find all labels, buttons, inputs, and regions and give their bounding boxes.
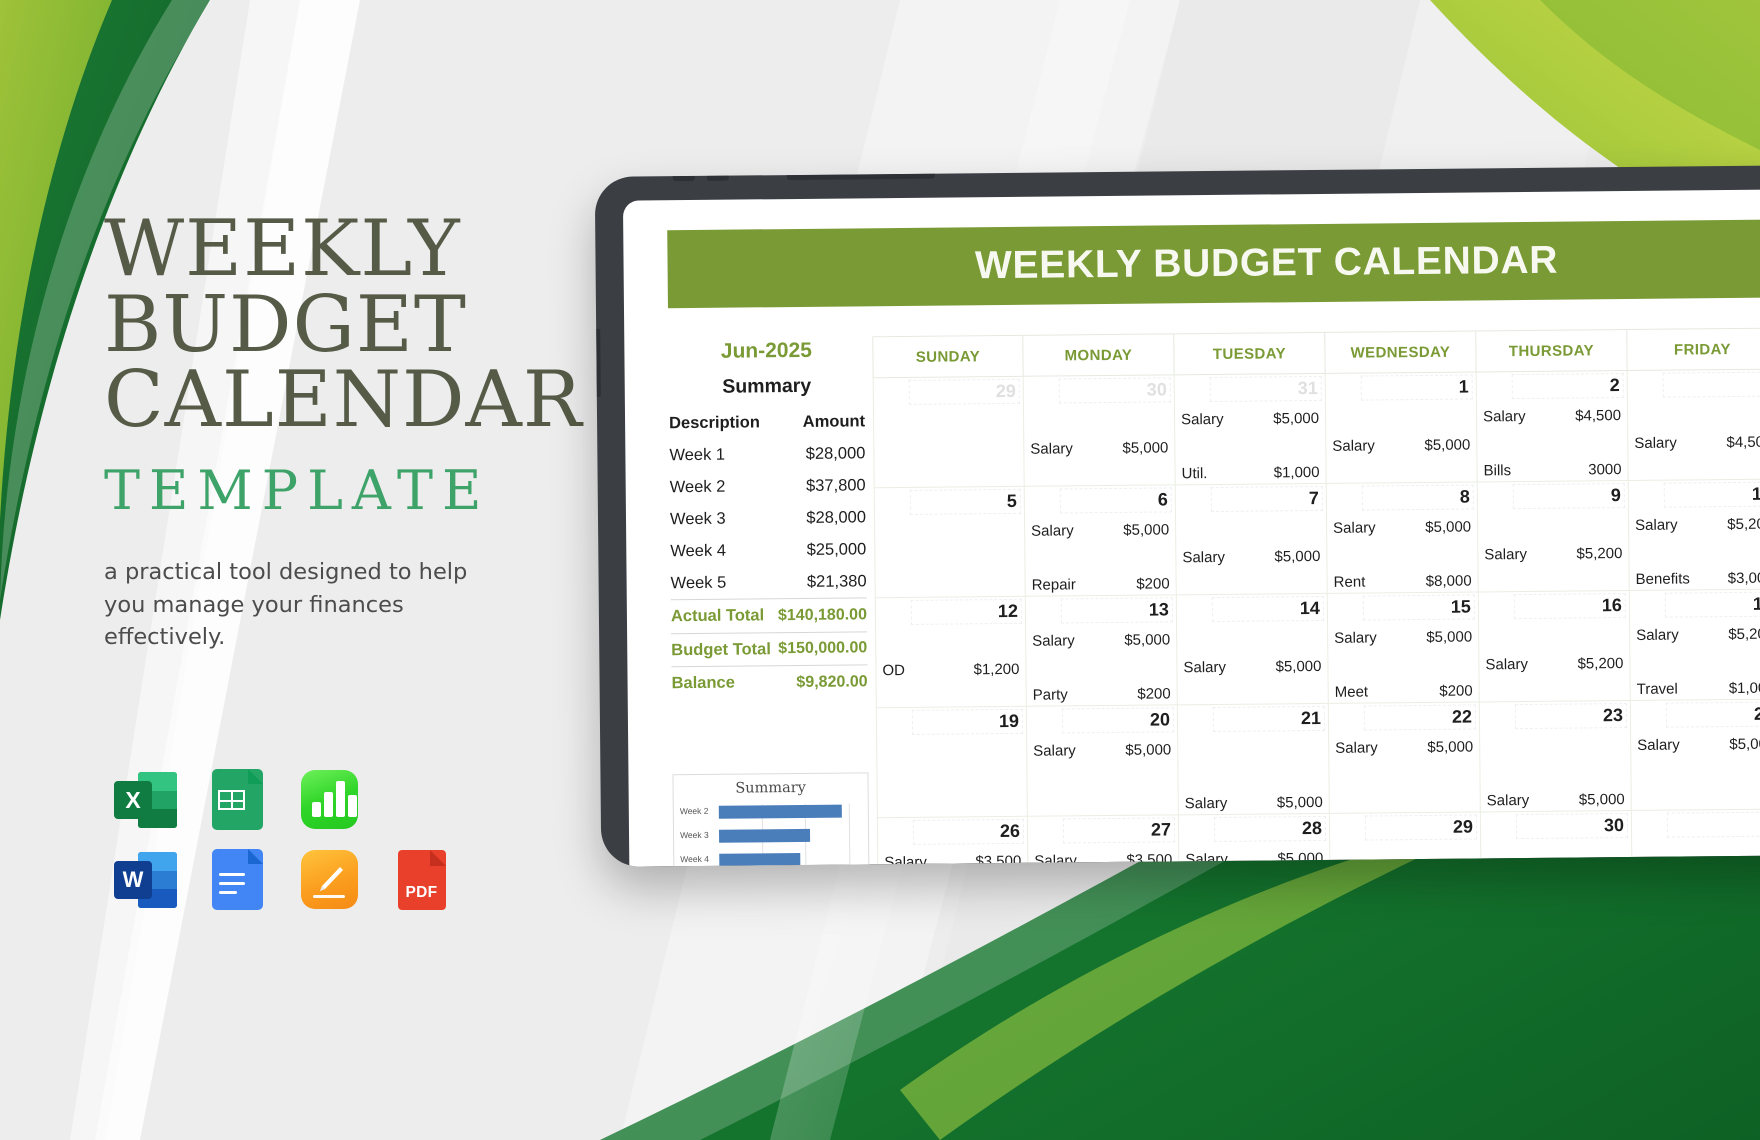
summary-title: Summary <box>669 374 865 399</box>
calendar-entry-amount: $5,000 <box>1123 521 1169 538</box>
calendar-day-cell[interactable]: 20Salary$5,000 <box>1027 705 1179 816</box>
calendar-week-row: 2930Salary$5,00031Salary$5,000Util.$1,00… <box>873 369 1760 488</box>
calendar-entry-amount: $200 <box>1137 685 1171 702</box>
calendar-entry-label: Salary <box>1033 742 1080 759</box>
calendar-day-header: TUESDAY <box>1174 332 1325 375</box>
calendar-day-number: 23 <box>1603 705 1623 726</box>
summary-row: Week 4$25,000 <box>670 533 866 567</box>
tablet-side-button[interactable] <box>596 329 601 397</box>
calendar-week-row: 1920Salary$5,00021Salary$5,00022Salary$5… <box>876 699 1760 818</box>
calendar-entry-label: Benefits <box>1636 570 1694 588</box>
google-sheets-table-glyph <box>218 790 245 810</box>
calendar-entry-amount: $1,000 <box>1274 464 1320 481</box>
calendar-entry[interactable]: Salary$5,000 <box>1335 739 1473 757</box>
calendar-day-cell[interactable]: 13Salary$5,000Party$200 <box>1026 595 1178 706</box>
calendar-day-cell[interactable]: 26Salary$3,500 <box>877 817 1029 867</box>
calendar-day-number: 7 <box>1309 488 1319 509</box>
calendar-entry[interactable]: Salary$5,000 <box>1181 410 1319 428</box>
calendar-day-cell[interactable]: 28Salary$5,000 <box>1179 814 1331 867</box>
calendar-day-cell[interactable]: 7Salary$5,000 <box>1176 484 1328 595</box>
summary-row-amount: $37,800 <box>773 469 866 502</box>
promo-block: WEEKLY BUDGET CALENDAR TEMPLATE a practi… <box>104 212 624 654</box>
calendar-entry-amount: $5,000 <box>1277 794 1323 811</box>
calendar-entry-amount: $1,200 <box>973 661 1019 678</box>
calendar-entry-amount: $5,200 <box>1577 655 1623 672</box>
calendar-entry-amount: $5,000 <box>1124 631 1170 648</box>
calendar-entry[interactable]: Salary$5,000 <box>1185 794 1323 812</box>
calendar-entry-label: Salary <box>1637 736 1684 753</box>
summary-total-amount: $140,180.00 <box>774 598 867 632</box>
chart-bar <box>719 829 810 843</box>
calendar-day-header: MONDAY <box>1023 333 1174 376</box>
apple-numbers-icon[interactable] <box>298 768 361 831</box>
calendar-entry-label: Salary <box>1485 656 1532 673</box>
calendar-day-cell[interactable]: 29 <box>1330 812 1482 866</box>
calendar-entry[interactable]: Salary$4,500 <box>1634 434 1760 452</box>
calendar-day-number: 17 <box>1753 594 1760 615</box>
summary-row-label: Week 4 <box>670 534 774 567</box>
calendar-day-cell[interactable]: 10Salary$5,200Benefits$3,000 <box>1629 480 1760 591</box>
calendar-entry[interactable]: Salary$5,200 <box>1485 655 1623 673</box>
calendar-entry-amount: $5,000 <box>1424 437 1470 454</box>
calendar-entry[interactable]: Salary$5,000 <box>1033 741 1171 759</box>
calendar-day-number: 24 <box>1754 704 1760 725</box>
calendar-grid: SUNDAYMONDAYTUESDAYWEDNESDAYTHURSDAYFRID… <box>872 327 1760 864</box>
calendar-day-cell[interactable]: 8Salary$5,000Rent$8,000 <box>1327 482 1479 593</box>
calendar-entry[interactable]: Rent$8,000 <box>1334 573 1472 591</box>
chart-title: Summary <box>674 779 868 797</box>
calendar-day-cell[interactable]: 14Salary$5,000 <box>1177 594 1329 705</box>
calendar-entry-amount: 3000 <box>1588 461 1622 478</box>
calendar-day-number: 29 <box>996 381 1016 402</box>
summary-total-row: Balance$9,820.00 <box>671 665 867 700</box>
calendar-entry[interactable]: Benefits$3,000 <box>1636 570 1760 588</box>
calendar-day-number: 20 <box>1150 709 1170 730</box>
summary-total-label: Budget Total <box>671 632 775 666</box>
chart-category-label: Week 4 <box>680 854 709 864</box>
page-title: WEEKLY BUDGET CALENDAR <box>104 212 624 439</box>
calendar-entry-label: Salary <box>1635 517 1682 534</box>
tablet-device-mockup: WEEKLY BUDGET CALENDAR Jun-2025 Summary … <box>595 165 1760 867</box>
summary-total-amount: $9,820.00 <box>775 665 868 699</box>
calendar-entry-label: Salary <box>1636 626 1683 643</box>
pdf-icon-label: PDF <box>390 884 453 902</box>
summary-row-amount: $21,380 <box>774 565 867 598</box>
chart-bar <box>719 805 842 819</box>
summary-row-amount: $25,000 <box>774 533 867 566</box>
day-number-box <box>1665 592 1760 618</box>
calendar-entry-label: Party <box>1033 686 1072 703</box>
calendar-day-cell[interactable]: 16Salary$5,200 <box>1479 591 1631 702</box>
calendar-entry-amount: $5,000 <box>1274 548 1320 565</box>
calendar-day-number: 2 <box>1610 375 1620 396</box>
calendar-day-number: 14 <box>1300 598 1320 619</box>
pdf-icon[interactable]: PDF <box>390 848 453 911</box>
chart-bar-row: Week 2 <box>674 803 860 820</box>
calendar-day-cell[interactable]: 17Salary$5,200Travel$1,000 <box>1630 590 1760 701</box>
summary-col-description: Description <box>669 406 773 439</box>
calendar-entry[interactable]: Salary$5,200 <box>1636 626 1760 644</box>
summary-total-row: Budget Total$150,000.00 <box>671 631 867 666</box>
google-sheets-icon[interactable] <box>206 768 269 831</box>
calendar-entry-label: Salary <box>1182 549 1229 566</box>
day-number-box <box>1512 373 1624 399</box>
format-icon-row-spreadsheets: X <box>114 768 453 831</box>
calendar-entry-amount: $5,000 <box>1125 741 1171 758</box>
calendar-entry[interactable]: Repair$200 <box>1032 575 1170 593</box>
calendar-day-cell[interactable]: 31Salary$5,000Util.$1,000 <box>1175 374 1327 485</box>
calendar-entry[interactable]: Util.$1,000 <box>1182 464 1320 482</box>
summary-total-label: Balance <box>671 666 775 700</box>
month-label: Jun-2025 <box>668 338 864 364</box>
chart-category-label: Week 3 <box>680 830 709 840</box>
summary-row-label: Week 5 <box>670 566 774 599</box>
calendar-day-cell[interactable]: 30Salary$5,000 <box>1024 375 1176 486</box>
calendar-entry-amount: $5,000 <box>1273 410 1319 427</box>
calendar-entry-amount: $4,500 <box>1726 434 1760 451</box>
calendar-entry-label: Salary <box>1183 659 1230 676</box>
calendar-day-header: THURSDAY <box>1476 329 1627 372</box>
tablet-speaker-notch <box>673 176 695 181</box>
calendar-entry-label: Bills <box>1483 462 1515 479</box>
excel-icon-label: X <box>114 781 152 819</box>
summary-row: Week 3$28,000 <box>670 501 866 535</box>
calendar-day-cell[interactable]: 24Salary$5,000 <box>1631 700 1760 811</box>
chart-bar-row: Week 3 <box>674 827 860 844</box>
calendar-day-number: 6 <box>1158 489 1168 510</box>
title-line-3: CALENDAR <box>104 363 624 439</box>
day-number-box <box>1211 486 1323 512</box>
calendar-entry-label: Salary <box>1031 522 1078 539</box>
calendar-entry-amount: $5,200 <box>1728 626 1760 643</box>
calendar-day-header: WEDNESDAY <box>1325 330 1476 373</box>
calendar-entry-amount: $1,000 <box>1729 680 1760 697</box>
calendar-entry[interactable]: Salary$5,000 <box>1334 629 1472 647</box>
calendar-entry-label: Salary <box>1484 546 1531 563</box>
calendar-day-number: 30 <box>1604 815 1624 836</box>
day-number-box <box>1666 702 1760 728</box>
summary-col-amount: Amount <box>772 405 865 438</box>
calendar-entry-label: Salary <box>1335 739 1382 756</box>
calendar-day-cell[interactable]: 15Salary$5,000Meet$200 <box>1328 592 1480 703</box>
day-number-box <box>1513 483 1625 509</box>
calendar-day-cell[interactable]: 27Salary$3,500 <box>1028 815 1180 866</box>
calendar-entry-amount: $8,000 <box>1426 573 1472 590</box>
calendar-day-number: 26 <box>1000 821 1020 842</box>
excel-icon[interactable]: X <box>114 768 177 831</box>
calendar-day-cell[interactable]: 29 <box>873 377 1025 488</box>
calendar-body: 2930Salary$5,00031Salary$5,000Util.$1,00… <box>873 369 1760 867</box>
summary-total-label: Actual Total <box>671 599 775 633</box>
calendar-entry-amount: $3,000 <box>1728 570 1760 587</box>
google-docs-icon[interactable] <box>206 848 269 911</box>
calendar-day-cell[interactable]: 5 <box>874 487 1026 598</box>
calendar-entry-label: Salary <box>1032 632 1079 649</box>
calendar-entry[interactable]: Salary$5,000 <box>1487 791 1625 809</box>
title-line-2: BUDGET <box>104 288 624 364</box>
day-number-box <box>1663 372 1760 398</box>
calendar-entry[interactable]: Salary$5,000 <box>1032 631 1170 649</box>
calendar-entry[interactable]: Salary$5,000 <box>1637 736 1760 754</box>
calendar-day-header: SUNDAY <box>872 335 1023 378</box>
calendar-entry-amount: $5,000 <box>1427 739 1473 756</box>
calendar-day-number: 19 <box>999 711 1019 732</box>
chart-category-label: Week 2 <box>680 806 709 816</box>
calendar-day-number: 16 <box>1602 595 1622 616</box>
calendar-entry-label: Salary <box>1185 795 1232 812</box>
summary-row-label: Week 1 <box>669 438 773 471</box>
calendar-entry[interactable]: Salary$5,000 <box>1183 658 1321 676</box>
calendar-entry-amount: $200 <box>1136 575 1170 592</box>
calendar-entry-amount: $5,200 <box>1576 545 1622 562</box>
calendar-week-row: 12OD$1,20013Salary$5,000Party$20014Salar… <box>875 589 1760 708</box>
calendar-day-cell[interactable]: 6Salary$5,000Repair$200 <box>1025 485 1177 596</box>
calendar-entry[interactable]: Meet$200 <box>1335 683 1473 701</box>
calendar-entry[interactable]: Salary$5,000 <box>1182 548 1320 566</box>
summary-row-label: Week 3 <box>670 502 774 535</box>
calendar-entry-label: Util. <box>1182 465 1212 482</box>
format-icon-grid: X W <box>114 768 453 911</box>
calendar-entry-amount: $5,000 <box>1579 791 1625 808</box>
calendar-day-cell[interactable]: 2Salary$4,500Bills3000 <box>1477 371 1629 482</box>
calendar-entry-label: Salary <box>1634 435 1681 452</box>
calendar-entry-label: Salary <box>1030 440 1077 457</box>
calendar-day-number: 31 <box>1298 378 1318 399</box>
calendar-day-cell[interactable]: 3Salary$4,500 <box>1628 370 1760 481</box>
word-icon[interactable]: W <box>114 848 177 911</box>
day-number-box <box>1361 375 1473 401</box>
calendar-entry[interactable]: Salary$5,200 <box>1484 545 1622 563</box>
calendar-entry-amount: $5,000 <box>1729 736 1760 753</box>
day-number-box <box>1667 812 1760 838</box>
summary-row: Week 2$37,800 <box>670 469 866 503</box>
pen-icon <box>314 864 346 896</box>
calendar-day-cell[interactable]: 19 <box>876 707 1028 818</box>
calendar-day-number: 28 <box>1302 818 1322 839</box>
calendar-entry[interactable]: Salary$5,000 <box>1031 521 1169 539</box>
calendar-entry-label: Salary <box>1181 411 1228 428</box>
spreadsheet-screen: WEEKLY BUDGET CALENDAR Jun-2025 Summary … <box>623 189 1760 867</box>
summary-bar-chart: Summary Week 2Week 3Week 4Week 5 <box>672 772 869 866</box>
calendar-week-row: 56Salary$5,000Repair$2007Salary$5,0008Sa… <box>874 479 1760 598</box>
format-icon-row-documents: W PDF <box>114 848 453 911</box>
calendar-day-number: 29 <box>1453 817 1473 838</box>
calendar-entry-amount: $5,000 <box>1275 658 1321 675</box>
calendar-entry[interactable]: Salary$5,000 <box>1030 439 1168 457</box>
calendar-day-number: 8 <box>1460 487 1470 508</box>
day-number-box <box>1060 487 1172 513</box>
calendar-entry-amount: $5,200 <box>1727 516 1760 533</box>
calendar-day-number: 30 <box>1147 379 1167 400</box>
tablet-camera-notch <box>707 176 729 181</box>
calendar-entry[interactable]: Salary$5,000 <box>1332 437 1470 455</box>
tagline: a practical tool designed to help you ma… <box>104 556 504 654</box>
summary-row-amount: $28,000 <box>773 501 866 534</box>
calendar-entry[interactable]: Salary$4,500 <box>1483 407 1621 425</box>
calendar-entry-amount: $5,000 <box>1426 629 1472 646</box>
calendar-entry-label: Salary <box>1333 519 1380 536</box>
calendar-day-number: 27 <box>1151 819 1171 840</box>
calendar-entry-amount: $5,000 <box>1425 519 1471 536</box>
apple-pages-icon[interactable] <box>298 848 361 911</box>
calendar-entry[interactable]: Salary$5,200 <box>1635 516 1760 534</box>
calendar-day-number: 15 <box>1451 597 1471 618</box>
calendar-day-number: 21 <box>1301 708 1321 729</box>
summary-table: DescriptionAmountWeek 1$28,000Week 2$37,… <box>669 405 868 699</box>
spreadsheet-banner: WEEKLY BUDGET CALENDAR <box>667 219 1760 308</box>
calendar-day-cell[interactable]: 22Salary$5,000 <box>1329 702 1481 813</box>
summary-header-row: DescriptionAmount <box>669 405 865 439</box>
summary-row: Week 5$21,380 <box>670 565 866 599</box>
calendar-day-number: 9 <box>1611 485 1621 506</box>
calendar-day-number: 12 <box>998 601 1018 622</box>
subtitle-template: TEMPLATE <box>104 459 624 522</box>
calendar-day-cell[interactable]: 23Salary$5,000 <box>1480 701 1632 812</box>
chart-bar-row: Week 4 <box>674 851 860 866</box>
calendar-day-number: 1 <box>1459 377 1469 398</box>
calendar-entry-label: Travel <box>1637 681 1682 698</box>
calendar-entry-amount: $200 <box>1439 683 1473 700</box>
calendar-entry-amount: $4,500 <box>1575 407 1621 424</box>
calendar-entry[interactable]: Travel$1,000 <box>1637 680 1760 698</box>
chart-bar <box>719 853 800 867</box>
summary-row-amount: $28,000 <box>773 437 866 470</box>
day-number-box <box>1362 484 1474 510</box>
word-icon-label: W <box>114 861 152 899</box>
calendar-day-header: FRIDAY <box>1627 328 1760 371</box>
spreadsheet-banner-title: WEEKLY BUDGET CALENDAR <box>975 239 1559 289</box>
calendar-entry-label: Rent <box>1334 574 1370 591</box>
summary-row: Week 1$28,000 <box>669 437 865 471</box>
calendar-entry[interactable]: Salary$5,000 <box>1333 519 1471 537</box>
summary-row-label: Week 2 <box>670 470 774 503</box>
calendar-entry-label: Repair <box>1032 576 1080 593</box>
calendar-day-number: 5 <box>1007 491 1017 512</box>
tablet-top-bezel-notch <box>787 174 935 180</box>
day-number-box <box>910 489 1021 515</box>
calendar-entry[interactable]: Party$200 <box>1033 685 1171 703</box>
calendar-entry[interactable]: OD$1,200 <box>882 661 1019 679</box>
calendar-entry-label: Salary <box>1334 629 1381 646</box>
summary-panel: Jun-2025 Summary DescriptionAmountWeek 1… <box>668 338 867 699</box>
calendar-entry-label: Meet <box>1335 683 1373 700</box>
calendar-entry-label: OD <box>882 662 909 679</box>
calendar-day-number: 22 <box>1452 707 1472 728</box>
calendar-day-cell[interactable]: 12OD$1,200 <box>875 597 1027 708</box>
calendar-entry-amount: $5,000 <box>1122 439 1168 456</box>
calendar-day-cell[interactable]: 21Salary$5,000 <box>1178 704 1330 815</box>
calendar-entry[interactable]: Bills3000 <box>1483 461 1621 479</box>
title-line-1: WEEKLY <box>104 212 624 288</box>
calendar-entry-label: Salary <box>1487 792 1534 809</box>
chart-plot-area: Week 2Week 3Week 4Week 5 <box>674 803 861 866</box>
calendar-day-cell[interactable]: 9Salary$5,200 <box>1478 481 1630 592</box>
summary-total-amount: $150,000.00 <box>775 631 868 665</box>
google-docs-doc-shape <box>212 849 263 910</box>
calendar-day-number: 10 <box>1752 484 1760 505</box>
calendar-entry-label: Salary <box>1332 437 1379 454</box>
calendar-day-number: 13 <box>1149 599 1169 620</box>
calendar-entry-label: Salary <box>1483 408 1530 425</box>
calendar-day-cell[interactable]: 1Salary$5,000 <box>1326 372 1478 483</box>
summary-total-row: Actual Total$140,180.00 <box>671 598 867 633</box>
day-number-box <box>1664 482 1760 508</box>
